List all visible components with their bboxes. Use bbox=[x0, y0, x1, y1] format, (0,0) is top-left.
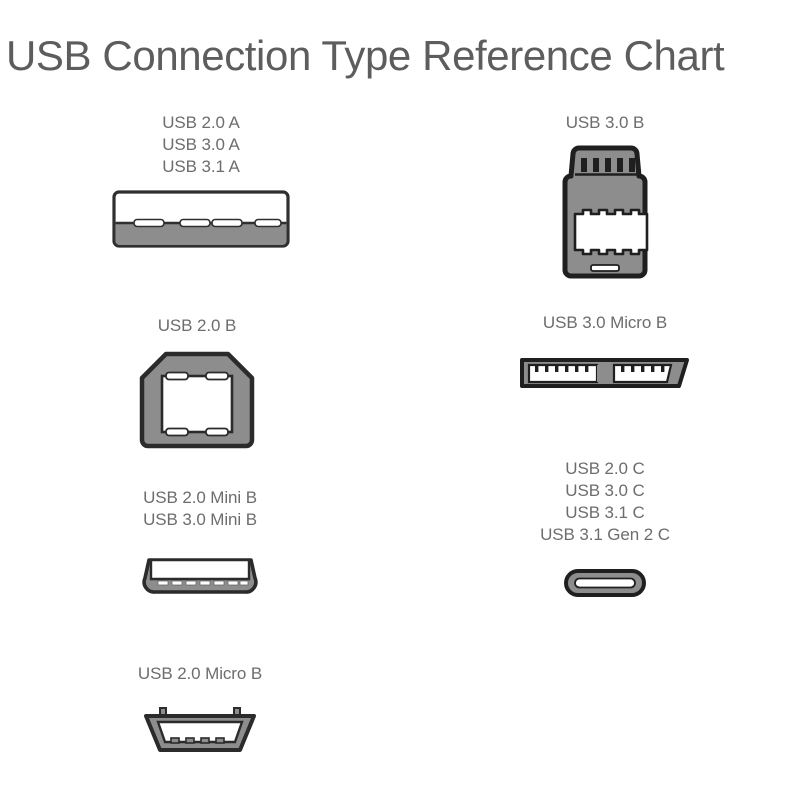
usb-3-0-micro-b-connector-icon bbox=[519, 354, 691, 392]
connector-label: USB 2.0 A bbox=[96, 112, 306, 134]
connector-label: USB 3.0 A bbox=[96, 134, 306, 156]
connector-label: USB 3.0 Mini B bbox=[100, 509, 300, 531]
connector-label: USB 2.0 Mini B bbox=[100, 487, 300, 509]
connector-label: USB 3.1 C bbox=[500, 502, 710, 524]
connector-entry-usb-30-micro-b: USB 3.0 Micro B bbox=[500, 312, 710, 392]
connector-label: USB 2.0 C bbox=[500, 458, 710, 480]
connector-label: USB 3.0 C bbox=[500, 480, 710, 502]
connector-entry-usb-20-b: USB 2.0 B bbox=[106, 315, 288, 450]
connector-entry-usb-c: USB 2.0 C USB 3.0 C USB 3.1 C USB 3.1 Ge… bbox=[500, 458, 710, 598]
usb-2-0-micro-b-connector-icon bbox=[138, 706, 262, 756]
connector-labels-usb-mini-b: USB 2.0 Mini B USB 3.0 Mini B bbox=[100, 487, 300, 531]
usb-2-0-type-b-connector-icon bbox=[138, 350, 256, 450]
connector-label: USB 3.1 A bbox=[96, 156, 306, 178]
usb-mini-b-connector-icon bbox=[127, 554, 273, 600]
page-title: USB Connection Type Reference Chart bbox=[6, 33, 796, 79]
usb-reference-chart: USB Connection Type Reference Chart USB … bbox=[0, 0, 800, 800]
connector-labels-usb-a: USB 2.0 A USB 3.0 A USB 3.1 A bbox=[96, 112, 306, 178]
connector-labels-usb-20-micro-b: USB 2.0 Micro B bbox=[100, 663, 300, 685]
connector-labels-usb-30-b: USB 3.0 B bbox=[510, 112, 700, 134]
connector-entry-usb-20-micro-b: USB 2.0 Micro B bbox=[100, 663, 300, 756]
connector-entry-usb-a: USB 2.0 A USB 3.0 A USB 3.1 A bbox=[96, 112, 306, 250]
connector-label: USB 2.0 Micro B bbox=[100, 663, 300, 685]
connector-label: USB 3.0 B bbox=[510, 112, 700, 134]
connector-label: USB 3.0 Micro B bbox=[500, 312, 710, 334]
connector-entry-usb-30-b: USB 3.0 B bbox=[510, 112, 700, 280]
connector-label: USB 2.0 B bbox=[106, 315, 288, 337]
usb-3-0-type-b-connector-icon bbox=[543, 144, 667, 280]
connector-entry-usb-mini-b: USB 2.0 Mini B USB 3.0 Mini B bbox=[100, 487, 300, 600]
usb-type-a-connector-icon bbox=[112, 190, 290, 250]
connector-labels-usb-20-b: USB 2.0 B bbox=[106, 315, 288, 337]
connector-labels-usb-30-micro-b: USB 3.0 Micro B bbox=[500, 312, 710, 334]
connector-label: USB 3.1 Gen 2 C bbox=[500, 524, 710, 546]
usb-type-c-connector-icon bbox=[563, 568, 647, 598]
connector-labels-usb-c: USB 2.0 C USB 3.0 C USB 3.1 C USB 3.1 Ge… bbox=[500, 458, 710, 546]
